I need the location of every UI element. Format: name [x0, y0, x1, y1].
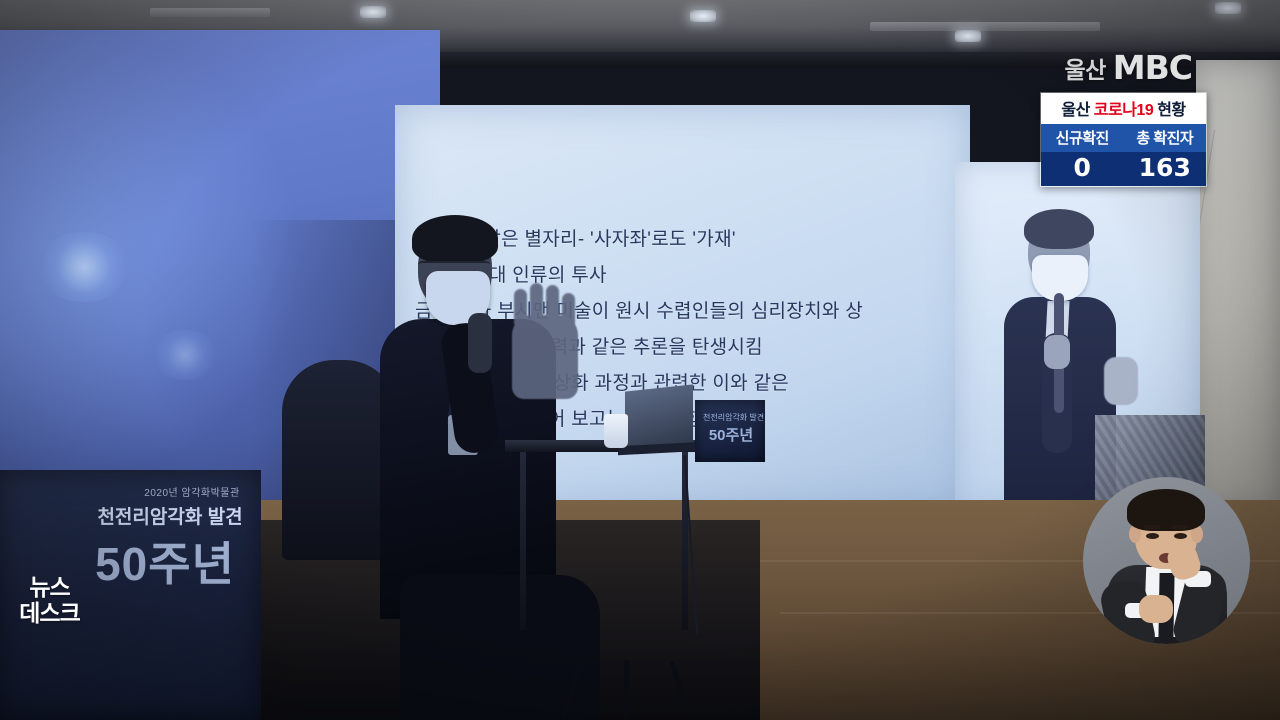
speaker-person — [390, 215, 600, 615]
ceiling-light — [955, 30, 981, 42]
ceiling-vent — [150, 8, 270, 17]
corona-status-header: 울산 코로나19 현황 — [1041, 93, 1206, 124]
stage-spotlight-glow — [150, 330, 220, 380]
corona-label-row: 신규확진 총 확진자 — [1041, 124, 1206, 152]
stage-spotlight-glow — [36, 232, 132, 302]
ceiling-light — [690, 10, 716, 22]
corona-value-total: 163 — [1124, 152, 1207, 186]
standee-subtitle: 2020년 암각화박물관 — [112, 484, 272, 499]
corona-suffix-label: 현황 — [1157, 102, 1185, 119]
sign-language-interpreter-inset — [1083, 477, 1250, 644]
ceiling-light — [1215, 2, 1241, 14]
corona-column-label-total: 총 확진자 — [1124, 124, 1207, 152]
station-logo: 울산 MBC — [1064, 48, 1192, 87]
corona-column-label-new: 신규확진 — [1041, 124, 1124, 152]
corona-value-row: 0 163 — [1041, 152, 1206, 186]
signing-hand-left — [1139, 595, 1173, 623]
microphone — [468, 313, 492, 373]
station-region-label: 울산 — [1064, 51, 1105, 85]
confidence-monitor-line2: 50주년 — [703, 424, 759, 445]
broadcast-screenshot: 똑 같은 별자리- '사자좌'로도 '가재' 선사 시대 인류의 투사 금 미술… — [0, 0, 1280, 720]
corona-highlight-label: 코로나19 — [1094, 102, 1153, 119]
program-logo-text: 뉴스 데스크 — [0, 574, 99, 626]
wall-panel-marble — [1196, 60, 1280, 510]
corona-value-new: 0 — [1041, 152, 1124, 186]
paper-cup — [604, 414, 628, 448]
corona-region-label: 울산 — [1061, 102, 1089, 119]
standee-title: 천전리암각화 발견 — [70, 502, 270, 529]
ceiling-vent — [870, 22, 1100, 31]
ceiling-light — [360, 6, 386, 18]
confidence-monitor-line1: 천전리암각화 발견 — [703, 412, 759, 423]
station-network-label: MBC — [1113, 48, 1192, 87]
corona-status-box: 울산 코로나19 현황 신규확진 총 확진자 0 163 — [1040, 92, 1207, 187]
